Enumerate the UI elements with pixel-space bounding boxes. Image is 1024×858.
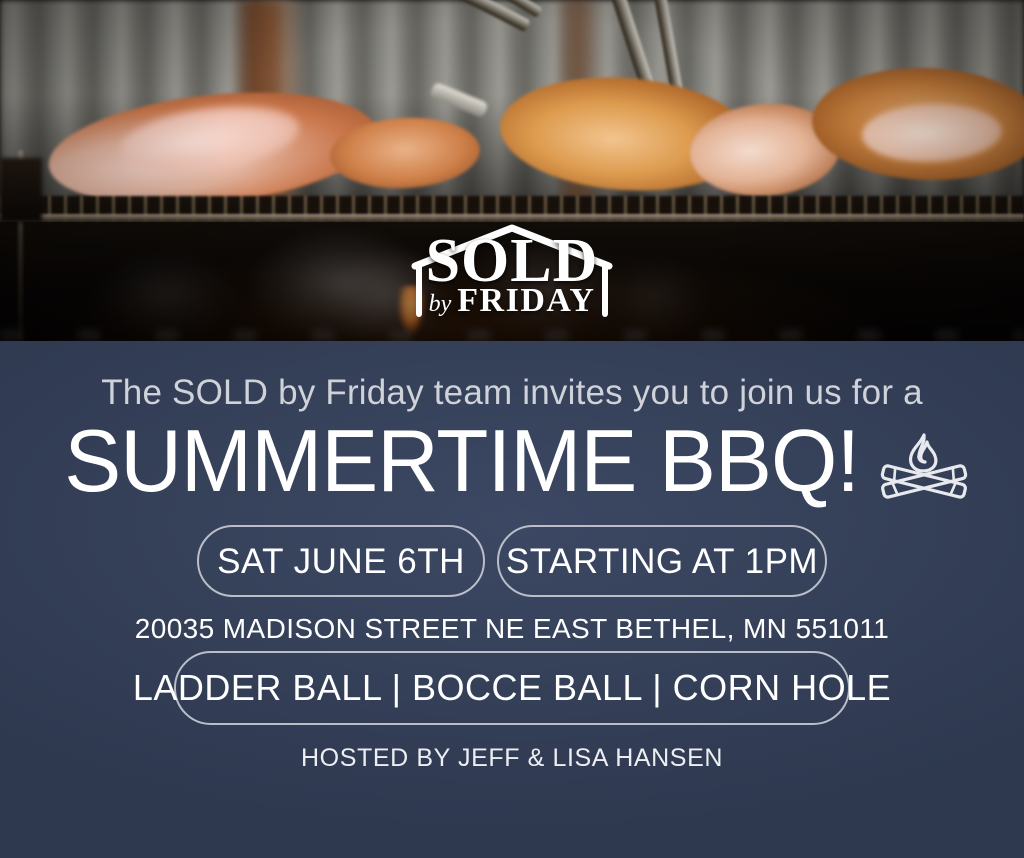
grill-bottom-highlights <box>0 330 1024 341</box>
sold-by-friday-logo: SOLD byFRIDAY <box>397 222 627 320</box>
logo-word-friday: FRIDAY <box>457 282 595 319</box>
headline-row: SUMMERTIME BBQ! <box>0 417 1024 505</box>
event-host-line: HOSTED BY JEFF & LISA HANSEN <box>0 744 1024 773</box>
smoke-wisp <box>96 250 236 340</box>
intro-line: The SOLD by Friday team invites you to j… <box>0 373 1024 413</box>
event-games-pill[interactable]: LADDER BALL | BOCCE BALL | CORN HOLE <box>174 651 850 725</box>
invitation-details-panel: The SOLD by Friday team invites you to j… <box>0 341 1024 858</box>
campfire-icon <box>876 431 972 505</box>
event-date-pill[interactable]: SAT JUNE 6TH <box>197 525 485 597</box>
event-address: 20035 MADISON STREET NE EAST BETHEL, MN … <box>0 613 1024 645</box>
logo-tagline: byFRIDAY <box>397 284 627 318</box>
grill-left-bracket <box>0 158 42 222</box>
page-title: SUMMERTIME BBQ! <box>65 417 860 505</box>
event-start-time-pill[interactable]: STARTING AT 1PM <box>497 525 827 597</box>
event-time-pills: SAT JUNE 6TH STARTING AT 1PM <box>0 525 1024 597</box>
bbq-invitation-poster: SOLD byFRIDAY The SOLD by Friday team in… <box>0 0 1024 858</box>
logo-word-by: by <box>429 291 452 317</box>
